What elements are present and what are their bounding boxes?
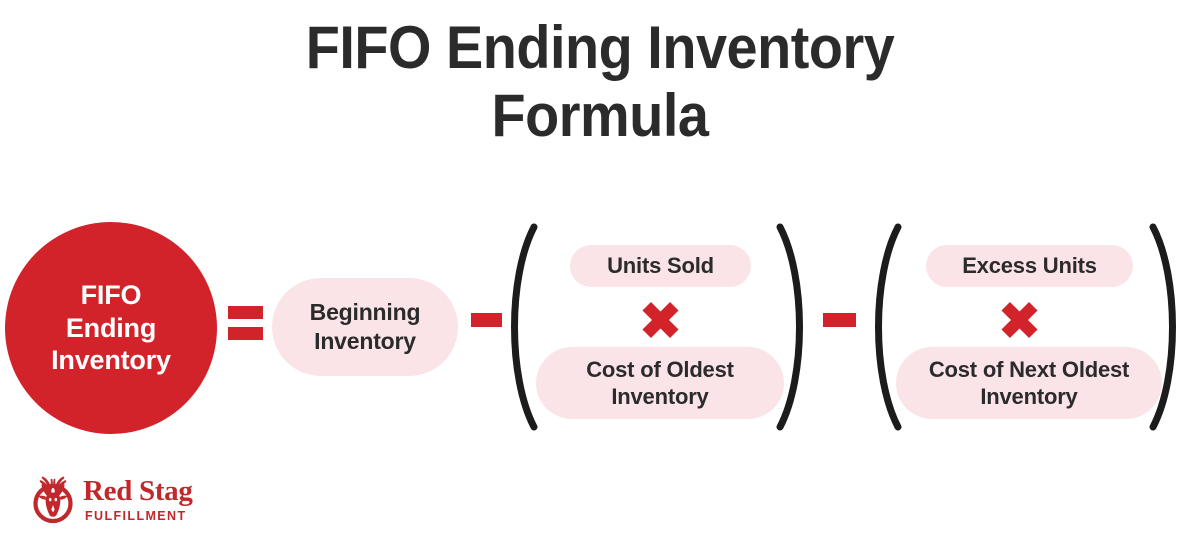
minus-sign-icon-2 [823, 313, 856, 327]
term-beginning-inventory: Beginning Inventory [272, 278, 458, 376]
multiply-sign-icon-2 [996, 297, 1042, 343]
paren-close-icon-1 [772, 221, 816, 433]
stag-head-icon [27, 474, 79, 526]
logo-tagline: FULFILLMENT [85, 510, 227, 523]
term-excess-units: Excess Units [926, 245, 1133, 287]
term-units-sold: Units Sold [570, 245, 751, 287]
term-cost-of-next-oldest-inventory-label: Cost of Next Oldest Inventory [896, 356, 1162, 411]
equals-sign-icon [228, 302, 263, 352]
multiply-sign-icon-1 [637, 297, 683, 343]
result-node-label: FIFO Ending Inventory [45, 279, 177, 378]
brand-logo: Red Stag FULFILLMENT [27, 472, 227, 528]
term-cost-of-oldest-inventory-label: Cost of Oldest Inventory [536, 356, 784, 411]
term-cost-of-next-oldest-inventory: Cost of Next Oldest Inventory [896, 347, 1162, 419]
page-title-line-1: FIFO Ending Inventory [42, 14, 1158, 82]
result-node-label-line-1: FIFO [81, 280, 142, 310]
logo-wordmark: Red Stag FULFILLMENT [83, 477, 227, 523]
term-cost-of-oldest-inventory: Cost of Oldest Inventory [536, 347, 784, 419]
result-node-label-line-2: Ending [66, 313, 156, 343]
term-excess-units-label: Excess Units [962, 253, 1097, 279]
paren-close-icon-2 [1145, 221, 1189, 433]
result-node-fifo-ending-inventory: FIFO Ending Inventory [5, 222, 217, 434]
equals-bar-top [228, 306, 263, 319]
page-title-line-2: Formula [42, 82, 1158, 150]
fifo-formula-diagram: FIFO Ending Inventory Beginning Inventor… [0, 205, 1200, 450]
page-title: FIFO Ending Inventory Formula [42, 14, 1158, 150]
term-units-sold-label: Units Sold [607, 253, 714, 279]
term-beginning-inventory-label: Beginning Inventory [272, 298, 458, 355]
equals-bar-bottom [228, 327, 263, 340]
logo-name: Red Stag [83, 477, 227, 506]
result-node-label-line-3: Inventory [51, 345, 171, 375]
